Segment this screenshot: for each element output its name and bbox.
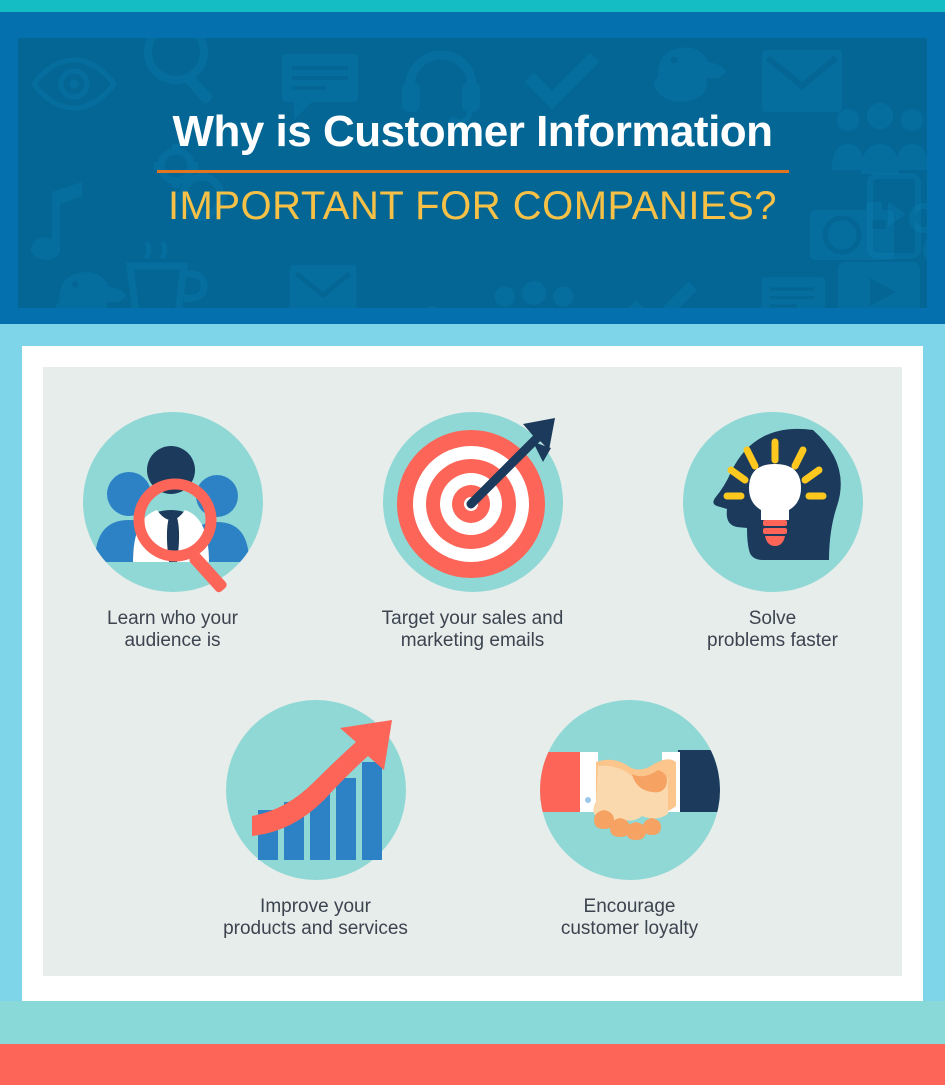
benefits-row-1: Learn who your audience is [43, 412, 902, 653]
icon-circle [383, 412, 563, 592]
bottom-teal-strip [0, 1001, 945, 1044]
benefit-item-improve-products[interactable]: Improve your products and services [214, 700, 418, 941]
target-arrow-icon [383, 412, 563, 592]
benefit-label: Learn who your audience is [107, 608, 238, 653]
page-title: Why is Customer Information [172, 109, 772, 155]
benefit-item-customer-loyalty[interactable]: Encourage customer loyalty [528, 700, 732, 941]
growth-chart-arrow-icon [226, 700, 406, 880]
audience-magnifier-icon [83, 412, 263, 592]
benefit-label: Improve your products and services [223, 896, 408, 941]
benefit-item-learn-audience[interactable]: Learn who your audience is [71, 412, 275, 653]
handshake-icon [540, 700, 720, 880]
icon-circle [540, 700, 720, 880]
icon-circle [83, 412, 263, 592]
title-divider [157, 170, 789, 173]
benefit-label: Target your sales and marketing emails [382, 608, 564, 653]
bottom-coral-strip [0, 1044, 945, 1085]
light-blue-band-right [923, 324, 945, 1001]
head-lightbulb-icon [683, 412, 863, 592]
benefit-label: Encourage customer loyalty [561, 896, 698, 941]
header-title-block: Why is Customer Information IMPORTANT FO… [0, 12, 945, 324]
infographic-page: Why is Customer Information IMPORTANT FO… [0, 0, 945, 1085]
icon-circle [226, 700, 406, 880]
top-teal-strip [0, 0, 945, 12]
light-blue-band-top [0, 324, 945, 346]
page-subtitle: IMPORTANT FOR COMPANIES? [168, 185, 777, 227]
icon-circle [683, 412, 863, 592]
benefit-item-solve-problems[interactable]: Solve problems faster [671, 412, 875, 653]
benefit-item-target-sales[interactable]: Target your sales and marketing emails [371, 412, 575, 653]
benefit-label: Solve problems faster [707, 608, 838, 653]
light-blue-band-left [0, 324, 22, 1001]
benefits-row-2: Improve your products and services [43, 700, 902, 941]
